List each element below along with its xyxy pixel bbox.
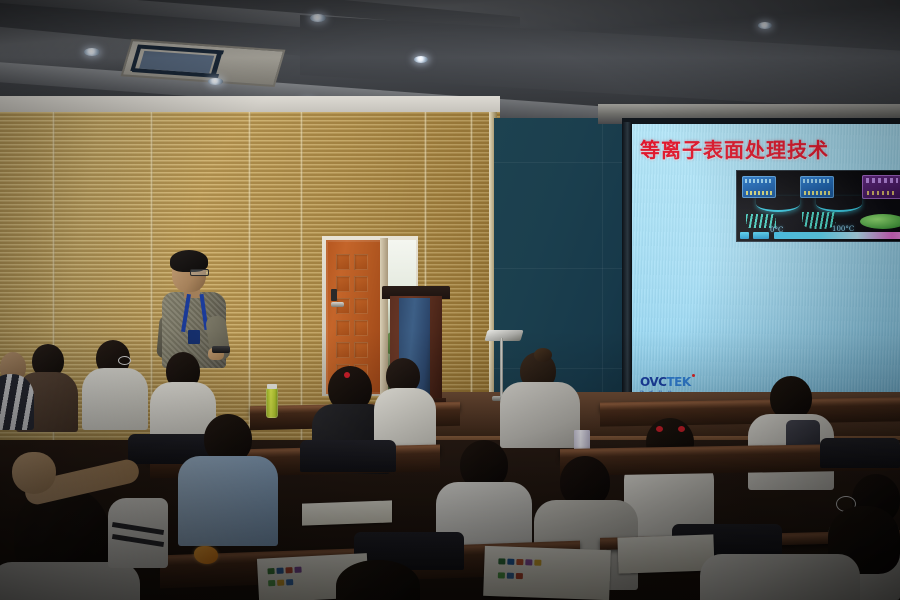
bottle-cap xyxy=(267,384,277,389)
chair-r3-c xyxy=(820,438,900,468)
logo-mark-primary: OVC xyxy=(640,375,666,389)
brochure-color-blocks-left2 xyxy=(268,579,293,586)
snack-package xyxy=(194,546,218,564)
audience-body-r4-b xyxy=(82,368,148,430)
hair-tie-left xyxy=(656,426,663,432)
audience-body-r4-e xyxy=(374,388,436,448)
presentation-slide[interactable]: 等离子表面处理技术 0°C 100°C OVCTEK 欧 威 科 技 xyxy=(632,124,900,406)
brochure-color-blocks-center2 xyxy=(498,572,523,579)
audience-body-r3-a xyxy=(178,456,278,546)
door-handle[interactable] xyxy=(331,302,344,307)
glasses-icon xyxy=(190,269,209,276)
logo-mark-secondary: TEK xyxy=(666,375,690,389)
screen-side-post xyxy=(622,122,632,408)
brochure-color-blocks-center xyxy=(498,558,541,565)
audience-hairbun-r4-f xyxy=(534,348,552,362)
brochure-color-blocks-left xyxy=(267,567,301,575)
open-brochure-center xyxy=(483,546,611,600)
slide-diagram: 0°C 100°C xyxy=(736,170,900,242)
lecture-hall-photo: 等离子表面处理技术 0°C 100°C OVCTEK 欧 威 科 技 xyxy=(0,0,900,600)
foreground-body-right xyxy=(700,554,860,600)
audience-body-r4-edge xyxy=(0,374,34,430)
audience-body-r4-f xyxy=(500,382,580,448)
logo-accent-dot xyxy=(692,374,695,377)
diagram-texture-two xyxy=(802,212,836,229)
open-brochure-right xyxy=(617,534,714,573)
raised-hand xyxy=(12,452,56,494)
diagram-arc-one xyxy=(756,196,800,212)
mic-stand-plate xyxy=(484,330,523,341)
mic-stand-pole xyxy=(500,338,503,400)
hair-tie-r4d xyxy=(344,372,350,378)
chair-r3-b xyxy=(300,440,396,472)
glasses-icon-r4b xyxy=(118,356,131,365)
notebook-r3 xyxy=(302,500,392,525)
presenter-badge xyxy=(188,330,200,344)
presentation-clicker[interactable] xyxy=(212,346,230,353)
diagram-swatch-two xyxy=(753,232,769,239)
door-lock-icon xyxy=(331,289,337,301)
diagram-panel-one xyxy=(742,176,776,198)
diagram-panel-three xyxy=(862,175,900,199)
slide-title: 等离子表面处理技术 xyxy=(640,134,892,163)
diagram-gradient-bar xyxy=(774,232,900,239)
diagram-arc-two xyxy=(816,196,862,212)
diagram-swatch-one xyxy=(740,232,749,239)
diagram-texture-three xyxy=(860,214,900,229)
beverage-bottle xyxy=(266,388,278,418)
diagram-panel-two xyxy=(800,176,834,198)
logo-wordmark: OVCTEK xyxy=(640,375,691,389)
hair-tie-right xyxy=(678,426,685,432)
